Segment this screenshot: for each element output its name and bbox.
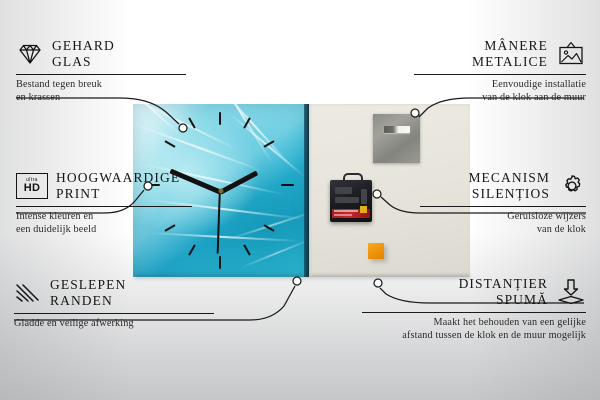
callout-header: ultra HD HOOGWAARDIGE PRINT [16,170,192,203]
callout-header: MECANISM SILENȚIOS [420,170,586,203]
callout-subtitle: Geruisloze wijzers van de klok [420,210,586,237]
diagonal-edges-icon [14,281,42,305]
arrow-down-layer-icon [556,278,586,306]
callout-gehard-glas[interactable]: GEHARD GLAS Bestand tegen breuk en krass… [16,38,186,105]
clock-hour-hand [219,171,258,195]
callout-divider [14,313,214,314]
clock-tick [243,244,251,255]
callout-title: HOOGWAARDIGE PRINT [56,170,180,203]
clock-second-hand [217,192,221,254]
callout-mecanism-silentios[interactable]: MECANISM SILENȚIOS Geruisloze wijzers va… [420,170,586,237]
callout-divider [420,206,586,207]
clock-tick [219,112,221,125]
callout-subtitle: Eenvoudige installatie van de klok aan d… [414,78,586,105]
ultra-hd-icon-main: HD [24,183,41,194]
callout-header: DISTANȚIER SPUMĂ [362,276,586,309]
callout-subtitle: Maakt het behouden van een gelijke afsta… [362,316,586,343]
mechanism-hanging-loop [343,173,363,184]
callout-title: GESLEPEN RANDEN [50,277,126,310]
callout-subtitle: Intense kleuren en een duidelijk beeld [16,210,192,237]
callout-header: GESLEPEN RANDEN [14,277,214,310]
callout-title: MÂNERE METALICE [472,38,548,71]
callout-header: GEHARD GLAS [16,38,186,71]
clock-center-pin [219,188,224,193]
callout-divider [16,74,186,75]
picture-frame-icon [556,41,586,67]
clock-mechanism-part [330,180,372,222]
callout-title: DISTANȚIER SPUMĂ [459,276,548,309]
diamond-icon [16,42,44,66]
mechanism-battery-label [332,209,370,218]
callout-title: MECANISM SILENȚIOS [468,170,550,203]
infographic-canvas: GEHARD GLAS Bestand tegen breuk en krass… [0,0,600,400]
callout-hoogwaardige-print[interactable]: ultra HD HOOGWAARDIGE PRINT Intense kleu… [16,170,192,237]
callout-title: GEHARD GLAS [52,38,115,71]
clock-tick [281,184,294,186]
callout-divider [16,206,192,207]
clock-tick [188,244,196,255]
callout-divider [414,74,586,75]
callout-geslepen-randen[interactable]: GESLEPEN RANDEN Gladde en veilige afwerk… [14,277,214,330]
metal-hanger-part [373,114,420,163]
callout-distantier-spuma[interactable]: DISTANȚIER SPUMĂ Maakt het behouden van … [362,276,586,343]
callout-manere-metalice[interactable]: MÂNERE METALICE Eenvoudige installatie v… [414,38,586,105]
callout-subtitle: Gladde en veilige afwerking [14,317,214,330]
callout-subtitle: Bestand tegen breuk en krassen [16,78,186,105]
foam-spacer-part [368,243,384,259]
callout-divider [362,312,586,313]
clock-tick [164,140,175,148]
clock-tick [219,256,221,269]
gear-icon [558,173,586,199]
hanger-slot [384,126,410,133]
ultra-hd-icon: ultra HD [16,173,48,199]
callout-header: MÂNERE METALICE [414,38,586,71]
